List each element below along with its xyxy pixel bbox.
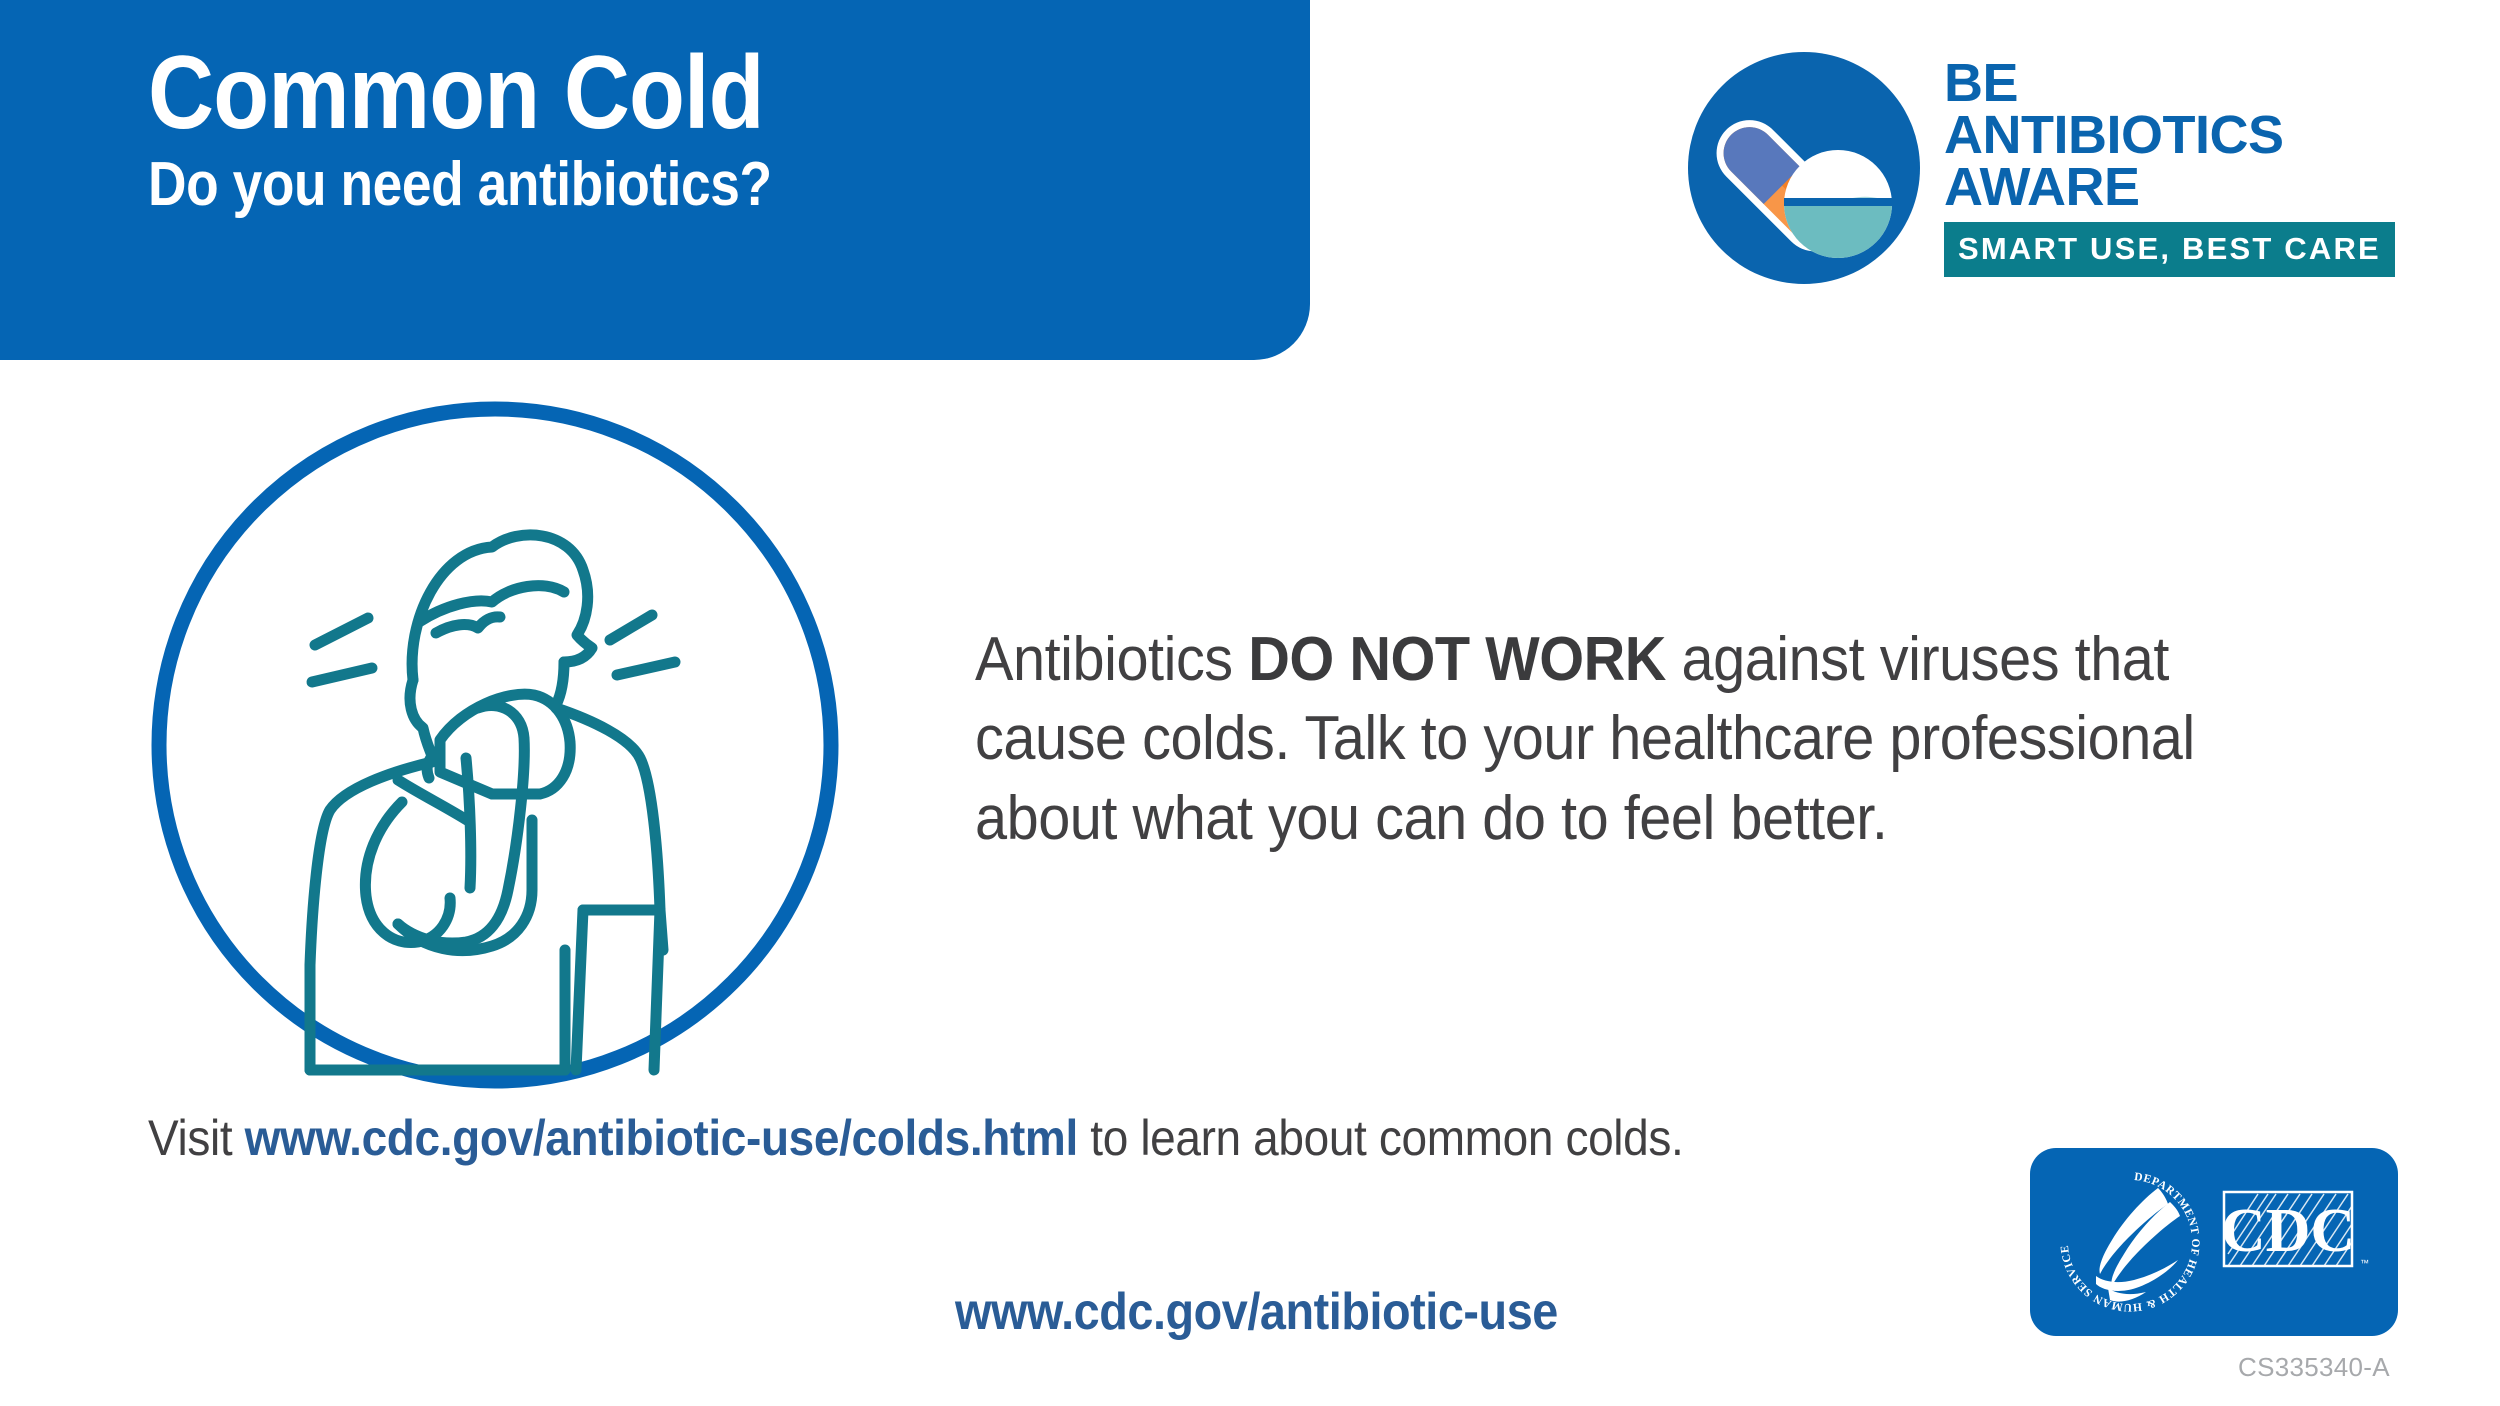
catalog-number: CS335340-A: [2238, 1352, 2390, 1383]
logo-wordmark: BE ANTIBIOTICS AWARE SMART USE, BEST CAR…: [1944, 52, 2395, 277]
svg-text:™: ™: [2360, 1258, 2369, 1268]
cdc-wordmark: CDC ™: [2221, 1192, 2369, 1268]
logo-line-antibiotics: ANTIBIOTICS: [1944, 110, 2395, 162]
pill-capsule-circle-icon: [1688, 52, 1920, 284]
be-antibiotics-aware-logo: BE ANTIBIOTICS AWARE SMART USE, BEST CAR…: [1688, 52, 2395, 284]
poster-canvas: Common Cold Do you need antibiotics?: [0, 0, 2500, 1406]
visit-prefix: Visit: [148, 1110, 245, 1166]
body-prefix: Antibiotics: [975, 625, 1248, 694]
body-copy: Antibiotics DO NOT WORK against viruses …: [975, 620, 2277, 858]
cdc-hhs-logo: DEPARTMENT OF HEALTH & HUMAN SERVICES·US…: [2030, 1148, 2398, 1336]
logo-line-be: BE: [1944, 58, 2395, 110]
visit-suffix: to learn about common colds.: [1078, 1110, 1684, 1166]
body-emphasis: DO NOT WORK: [1248, 625, 1666, 694]
logo-line-aware: AWARE: [1944, 162, 2395, 214]
antibiotic-use-url-link[interactable]: www.cdc.gov/antibiotic-use: [955, 1282, 1558, 1342]
logo-tagline: SMART USE, BEST CARE: [1944, 222, 2395, 277]
page-title: Common Cold: [148, 40, 1134, 146]
person-sneezing-into-tissue-icon: [140, 390, 850, 1100]
page-subtitle: Do you need antibiotics?: [148, 152, 1111, 219]
visit-line: Visit www.cdc.gov/antibiotic-use/colds.h…: [148, 1108, 1683, 1168]
title-block: Common Cold Do you need antibiotics?: [148, 40, 1268, 219]
colds-page-link[interactable]: www.cdc.gov/antibiotic-use/colds.html: [245, 1110, 1078, 1166]
svg-text:CDC: CDC: [2221, 1197, 2355, 1265]
